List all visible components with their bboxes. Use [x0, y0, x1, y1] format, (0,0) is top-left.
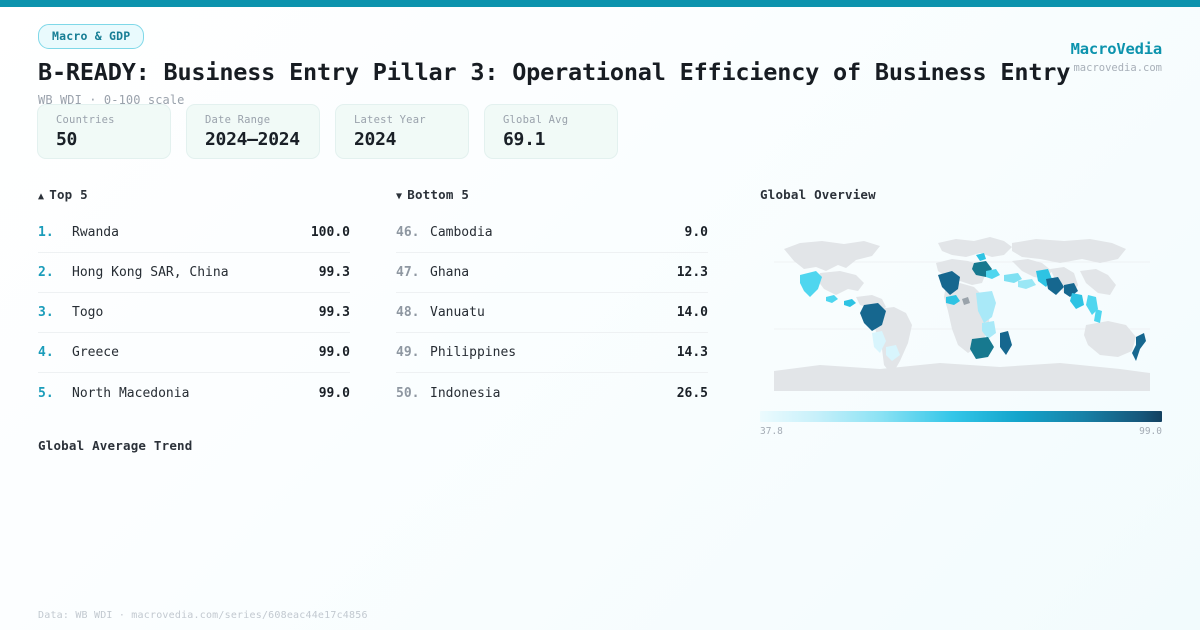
- country-name: Greece: [72, 345, 319, 360]
- stat-label: Latest Year: [354, 114, 450, 126]
- metric-value: 9.0: [685, 225, 708, 240]
- page-root: Macro & GDP B-READY: Business Entry Pill…: [0, 7, 1200, 630]
- metric-value: 99.0: [319, 345, 350, 360]
- stat-card-global-avg: Global Avg 69.1: [484, 104, 618, 159]
- rank-number: 2.: [38, 265, 72, 280]
- rank-number: 48.: [396, 305, 430, 320]
- metric-value: 12.3: [677, 265, 708, 280]
- category-badge[interactable]: Macro & GDP: [38, 24, 144, 49]
- country-name: North Macedonia: [72, 386, 319, 401]
- page-title: B-READY: Business Entry Pillar 3: Operat…: [38, 58, 1162, 86]
- world-choropleth-map[interactable]: [760, 213, 1162, 405]
- bottom-5-panel: ▼Bottom 5 46. Cambodia 9.0 47. Ghana 12.…: [396, 187, 708, 413]
- table-row[interactable]: 3. Togo 99.3: [38, 293, 350, 333]
- rank-number: 47.: [396, 265, 430, 280]
- stat-value: 2024: [354, 129, 450, 150]
- metric-value: 26.5: [677, 386, 708, 401]
- brand-name: MacroVedia: [1071, 40, 1162, 58]
- stat-card-latest-year: Latest Year 2024: [335, 104, 469, 159]
- rank-number: 1.: [38, 225, 72, 240]
- rank-number: 3.: [38, 305, 72, 320]
- header: Macro & GDP B-READY: Business Entry Pill…: [38, 24, 1162, 107]
- top-5-panel: ▲Top 5 1. Rwanda 100.0 2. Hong Kong SAR,…: [38, 187, 350, 413]
- table-row[interactable]: 5. North Macedonia 99.0: [38, 373, 350, 413]
- brand[interactable]: MacroVedia macrovedia.com: [1071, 40, 1162, 74]
- map-colorbar-labels: 37.8 99.0: [760, 426, 1162, 437]
- stat-card-date-range: Date Range 2024–2024: [186, 104, 320, 159]
- top-5-heading-label: Top 5: [49, 187, 88, 202]
- colorbar-min-label: 37.8: [760, 426, 783, 437]
- stat-card-countries: Countries 50: [37, 104, 171, 159]
- metric-value: 99.3: [319, 305, 350, 320]
- country-name: Indonesia: [430, 386, 677, 401]
- bottom-5-heading-label: Bottom 5: [407, 187, 469, 202]
- world-map-svg: [760, 213, 1162, 405]
- table-row[interactable]: 48. Vanuatu 14.0: [396, 293, 708, 333]
- country-name: Ghana: [430, 265, 677, 280]
- table-row[interactable]: 50. Indonesia 26.5: [396, 373, 708, 413]
- table-row[interactable]: 4. Greece 99.0: [38, 333, 350, 373]
- metric-value: 99.3: [319, 265, 350, 280]
- table-row[interactable]: 46. Cambodia 9.0: [396, 213, 708, 253]
- trend-chart-area[interactable]: [38, 463, 718, 593]
- triangle-up-icon: ▲: [38, 191, 44, 202]
- map-title: Global Overview: [760, 187, 1162, 202]
- stat-label: Countries: [56, 114, 152, 126]
- brand-url: macrovedia.com: [1071, 62, 1162, 74]
- rank-number: 5.: [38, 386, 72, 401]
- top-5-heading: ▲Top 5: [38, 187, 350, 202]
- colorbar-max-label: 99.0: [1139, 426, 1162, 437]
- table-row[interactable]: 2. Hong Kong SAR, China 99.3: [38, 253, 350, 293]
- rank-number: 46.: [396, 225, 430, 240]
- stat-label: Global Avg: [503, 114, 599, 126]
- footer-source: Data: WB WDI · macrovedia.com/series/608…: [38, 610, 368, 621]
- global-average-trend-panel: Global Average Trend: [38, 438, 718, 593]
- map-land-base: [774, 237, 1150, 391]
- trend-title: Global Average Trend: [38, 438, 718, 453]
- country-name: Philippines: [430, 345, 677, 360]
- metric-value: 14.3: [677, 345, 708, 360]
- map-colorbar: [760, 411, 1162, 422]
- metric-value: 100.0: [311, 225, 350, 240]
- country-name: Hong Kong SAR, China: [72, 265, 319, 280]
- stat-value: 69.1: [503, 129, 599, 150]
- country-name: Cambodia: [430, 225, 685, 240]
- table-row[interactable]: 49. Philippines 14.3: [396, 333, 708, 373]
- country-name: Togo: [72, 305, 319, 320]
- stat-value: 2024–2024: [205, 129, 301, 150]
- stat-card-row: Countries 50 Date Range 2024–2024 Latest…: [37, 104, 618, 159]
- rank-number: 50.: [396, 386, 430, 401]
- rank-number: 49.: [396, 345, 430, 360]
- triangle-down-icon: ▼: [396, 191, 402, 202]
- country-name: Vanuatu: [430, 305, 677, 320]
- stat-value: 50: [56, 129, 152, 150]
- metric-value: 14.0: [677, 305, 708, 320]
- table-row[interactable]: 47. Ghana 12.3: [396, 253, 708, 293]
- metric-value: 99.0: [319, 386, 350, 401]
- bottom-5-heading: ▼Bottom 5: [396, 187, 708, 202]
- rank-number: 4.: [38, 345, 72, 360]
- stat-label: Date Range: [205, 114, 301, 126]
- table-row[interactable]: 1. Rwanda 100.0: [38, 213, 350, 253]
- country-name: Rwanda: [72, 225, 311, 240]
- global-overview-panel: Global Overview: [760, 187, 1162, 437]
- top-accent-bar: [0, 0, 1200, 7]
